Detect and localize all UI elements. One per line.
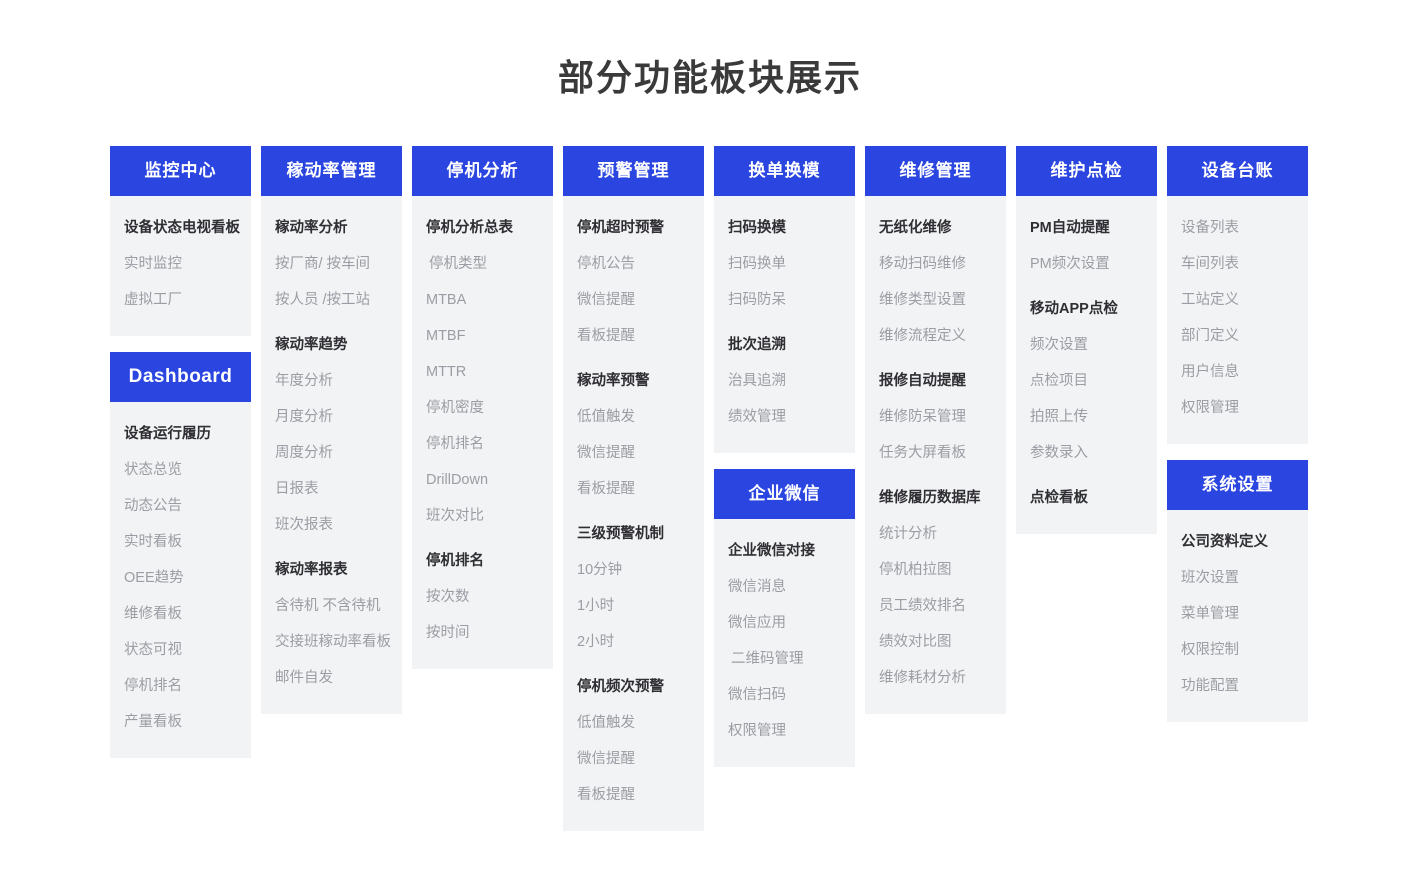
module-item[interactable]: 2小时 <box>563 624 704 660</box>
module-card-body: 停机超时预警停机公告微信提醒看板提醒稼动率预警低值触发微信提醒看板提醒三级预警机… <box>563 196 704 831</box>
module-item[interactable]: 日报表 <box>261 471 402 507</box>
module-item[interactable]: 二维码管理 <box>714 641 855 677</box>
module-group-label[interactable]: 停机超时预警 <box>563 210 704 246</box>
module-item[interactable]: 参数录入 <box>1016 435 1157 471</box>
module-card: 维护点检PM自动提醒PM频次设置移动APP点检频次设置点检项目拍照上传参数录入点… <box>1016 146 1157 534</box>
module-item[interactable]: 班次报表 <box>261 507 402 543</box>
module-card-body: 稼动率分析按厂商/ 按车间按人员 /按工站稼动率趋势年度分析月度分析周度分析日报… <box>261 196 402 714</box>
module-item[interactable]: 1小时 <box>563 588 704 624</box>
module-item[interactable]: 交接班稼动率看板 <box>261 624 402 660</box>
module-group-label[interactable]: 停机排名 <box>412 543 553 579</box>
module-item[interactable]: 动态公告 <box>110 488 251 524</box>
module-item[interactable]: 维修看板 <box>110 596 251 632</box>
module-item[interactable]: 看板提醒 <box>563 318 704 354</box>
module-card: 稼动率管理稼动率分析按厂商/ 按车间按人员 /按工站稼动率趋势年度分析月度分析周… <box>261 146 402 714</box>
module-card: Dashboard设备运行履历状态总览动态公告实时看板OEE趋势维修看板状态可视… <box>110 352 251 758</box>
module-group-label[interactable]: 设备状态电视看板 <box>110 210 251 246</box>
module-item[interactable]: 按次数 <box>412 579 553 615</box>
module-item[interactable]: 按人员 /按工站 <box>261 282 402 318</box>
module-column-maintenance-inspection: 维护点检PM自动提醒PM频次设置移动APP点检频次设置点检项目拍照上传参数录入点… <box>1016 146 1157 534</box>
module-item[interactable]: 状态总览 <box>110 452 251 488</box>
module-item[interactable]: PM频次设置 <box>1016 246 1157 282</box>
module-item[interactable]: 用户信息 <box>1167 354 1308 390</box>
module-card-header[interactable]: 企业微信 <box>714 469 855 519</box>
module-card: 停机分析停机分析总表停机类型MTBAMTBFMTTR停机密度停机排名DrillD… <box>412 146 553 669</box>
module-item[interactable]: 绩效对比图 <box>865 624 1006 660</box>
module-item[interactable]: 微信提醒 <box>563 435 704 471</box>
module-group-label[interactable]: 三级预警机制 <box>563 516 704 552</box>
module-group-label[interactable]: 公司资料定义 <box>1167 524 1308 560</box>
module-item[interactable]: 微信扫码 <box>714 677 855 713</box>
module-item[interactable]: 治具追溯 <box>714 363 855 399</box>
module-group-label[interactable]: 移动APP点检 <box>1016 291 1157 327</box>
page-title: 部分功能板块展示 <box>0 0 1420 104</box>
module-card-body: 停机分析总表停机类型MTBAMTBFMTTR停机密度停机排名DrillDown班… <box>412 196 553 669</box>
module-card-body: 公司资料定义班次设置菜单管理权限控制功能配置 <box>1167 510 1308 722</box>
module-item[interactable]: 停机柏拉图 <box>865 552 1006 588</box>
module-card-body: PM自动提醒PM频次设置移动APP点检频次设置点检项目拍照上传参数录入点检看板 <box>1016 196 1157 534</box>
module-card-header[interactable]: Dashboard <box>110 352 251 402</box>
module-group-label[interactable]: 扫码换模 <box>714 210 855 246</box>
module-item[interactable]: 实时监控 <box>110 246 251 282</box>
module-item[interactable]: DrillDown <box>412 462 553 498</box>
feature-modules-page: 部分功能板块展示 监控中心设备状态电视看板实时监控虚拟工厂Dashboard设备… <box>0 0 1420 879</box>
module-item[interactable]: 按厂商/ 按车间 <box>261 246 402 282</box>
module-item[interactable]: 产量看板 <box>110 704 251 740</box>
module-item[interactable]: 实时看板 <box>110 524 251 560</box>
module-item[interactable]: 部门定义 <box>1167 318 1308 354</box>
module-card-body: 企业微信对接微信消息微信应用二维码管理微信扫码权限管理 <box>714 519 855 767</box>
module-item[interactable]: 看板提醒 <box>563 777 704 813</box>
module-item[interactable]: 工站定义 <box>1167 282 1308 318</box>
module-group-label[interactable]: 设备运行履历 <box>110 416 251 452</box>
module-item[interactable]: 权限管理 <box>714 713 855 749</box>
module-group-label[interactable]: 企业微信对接 <box>714 533 855 569</box>
module-item[interactable]: 扫码换单 <box>714 246 855 282</box>
module-card: 企业微信企业微信对接微信消息微信应用二维码管理微信扫码权限管理 <box>714 469 855 767</box>
module-item[interactable]: 状态可视 <box>110 632 251 668</box>
module-card-body: 设备运行履历状态总览动态公告实时看板OEE趋势维修看板状态可视停机排名产量看板 <box>110 402 251 758</box>
module-item[interactable]: 统计分析 <box>865 516 1006 552</box>
module-card-header[interactable]: 维护点检 <box>1016 146 1157 196</box>
module-group-label[interactable]: 稼动率趋势 <box>261 327 402 363</box>
module-item[interactable]: 含待机 不含待机 <box>261 588 402 624</box>
module-item[interactable]: 按时间 <box>412 615 553 651</box>
module-item[interactable]: 拍照上传 <box>1016 399 1157 435</box>
module-item[interactable]: 权限控制 <box>1167 632 1308 668</box>
module-item[interactable]: 点检项目 <box>1016 363 1157 399</box>
module-card-body: 扫码换模扫码换单扫码防呆批次追溯治具追溯绩效管理 <box>714 196 855 453</box>
module-card-body: 设备列表车间列表工站定义部门定义用户信息权限管理 <box>1167 196 1308 444</box>
module-item[interactable]: 邮件自发 <box>261 660 402 696</box>
module-item[interactable]: 权限管理 <box>1167 390 1308 426</box>
module-item[interactable]: 车间列表 <box>1167 246 1308 282</box>
module-item[interactable]: OEE趋势 <box>110 560 251 596</box>
module-item[interactable]: 看板提醒 <box>563 471 704 507</box>
module-card-header[interactable]: 稼动率管理 <box>261 146 402 196</box>
module-card-header[interactable]: 停机分析 <box>412 146 553 196</box>
module-item[interactable]: MTTR <box>412 354 553 390</box>
module-item[interactable]: 班次对比 <box>412 498 553 534</box>
module-card-header[interactable]: 设备台账 <box>1167 146 1308 196</box>
module-card-header[interactable]: 预警管理 <box>563 146 704 196</box>
module-card-header[interactable]: 系统设置 <box>1167 460 1308 510</box>
module-item[interactable]: 低值触发 <box>563 705 704 741</box>
module-group-label[interactable]: 稼动率预警 <box>563 363 704 399</box>
module-item[interactable]: 员工绩效排名 <box>865 588 1006 624</box>
module-group-label[interactable]: PM自动提醒 <box>1016 210 1157 246</box>
module-item[interactable]: 维修类型设置 <box>865 282 1006 318</box>
module-group-label[interactable]: 批次追溯 <box>714 327 855 363</box>
module-item[interactable]: 设备列表 <box>1167 210 1308 246</box>
module-card-header[interactable]: 换单换模 <box>714 146 855 196</box>
module-item[interactable]: 移动扫码维修 <box>865 246 1006 282</box>
module-item[interactable]: 周度分析 <box>261 435 402 471</box>
module-item[interactable]: 频次设置 <box>1016 327 1157 363</box>
module-item[interactable]: 低值触发 <box>563 399 704 435</box>
module-group-label[interactable]: 无纸化维修 <box>865 210 1006 246</box>
module-item[interactable]: 微信提醒 <box>563 282 704 318</box>
module-group-label[interactable]: 点检看板 <box>1016 480 1157 516</box>
module-card-header[interactable]: 监控中心 <box>110 146 251 196</box>
module-item[interactable]: 菜单管理 <box>1167 596 1308 632</box>
module-group-label[interactable]: 维修履历数据库 <box>865 480 1006 516</box>
module-item[interactable]: 停机公告 <box>563 246 704 282</box>
module-card: 系统设置公司资料定义班次设置菜单管理权限控制功能配置 <box>1167 460 1308 722</box>
module-item[interactable]: 微信提醒 <box>563 741 704 777</box>
module-item[interactable]: 年度分析 <box>261 363 402 399</box>
module-column-utilization: 稼动率管理稼动率分析按厂商/ 按车间按人员 /按工站稼动率趋势年度分析月度分析周… <box>261 146 402 714</box>
module-card-body: 设备状态电视看板实时监控虚拟工厂 <box>110 196 251 336</box>
module-item[interactable]: 微信应用 <box>714 605 855 641</box>
module-column-alarm-management: 预警管理停机超时预警停机公告微信提醒看板提醒稼动率预警低值触发微信提醒看板提醒三… <box>563 146 704 831</box>
module-item[interactable]: 班次设置 <box>1167 560 1308 596</box>
module-column-repair-management: 维修管理无纸化维修移动扫码维修维修类型设置维修流程定义报修自动提醒维修防呆管理任… <box>865 146 1006 714</box>
module-item[interactable]: 虚拟工厂 <box>110 282 251 318</box>
module-item[interactable]: MTBA <box>412 282 553 318</box>
module-item[interactable]: MTBF <box>412 318 553 354</box>
module-card: 换单换模扫码换模扫码换单扫码防呆批次追溯治具追溯绩效管理 <box>714 146 855 453</box>
module-group-label[interactable]: 稼动率分析 <box>261 210 402 246</box>
module-card: 设备台账设备列表车间列表工站定义部门定义用户信息权限管理 <box>1167 146 1308 444</box>
module-group-label[interactable]: 报修自动提醒 <box>865 363 1006 399</box>
module-item[interactable]: 月度分析 <box>261 399 402 435</box>
module-card-header[interactable]: 维修管理 <box>865 146 1006 196</box>
module-item[interactable]: 功能配置 <box>1167 668 1308 704</box>
module-column-equipment-ledger: 设备台账设备列表车间列表工站定义部门定义用户信息权限管理系统设置公司资料定义班次… <box>1167 146 1308 722</box>
module-item[interactable]: 停机排名 <box>412 426 553 462</box>
module-item[interactable]: 10分钟 <box>563 552 704 588</box>
module-column-downtime-analysis: 停机分析停机分析总表停机类型MTBAMTBFMTTR停机密度停机排名DrillD… <box>412 146 553 669</box>
module-item[interactable]: 停机类型 <box>412 246 553 282</box>
module-card: 监控中心设备状态电视看板实时监控虚拟工厂 <box>110 146 251 336</box>
module-item[interactable]: 停机排名 <box>110 668 251 704</box>
module-group-label[interactable]: 停机频次预警 <box>563 669 704 705</box>
module-item[interactable]: 停机密度 <box>412 390 553 426</box>
module-item[interactable]: 任务大屏看板 <box>865 435 1006 471</box>
module-item[interactable]: 维修防呆管理 <box>865 399 1006 435</box>
module-column-changeover: 换单换模扫码换模扫码换单扫码防呆批次追溯治具追溯绩效管理企业微信企业微信对接微信… <box>714 146 855 767</box>
module-item[interactable]: 扫码防呆 <box>714 282 855 318</box>
module-item[interactable]: 绩效管理 <box>714 399 855 435</box>
module-card: 预警管理停机超时预警停机公告微信提醒看板提醒稼动率预警低值触发微信提醒看板提醒三… <box>563 146 704 831</box>
module-item[interactable]: 维修流程定义 <box>865 318 1006 354</box>
module-card: 维修管理无纸化维修移动扫码维修维修类型设置维修流程定义报修自动提醒维修防呆管理任… <box>865 146 1006 714</box>
module-item[interactable]: 维修耗材分析 <box>865 660 1006 696</box>
module-column-monitoring: 监控中心设备状态电视看板实时监控虚拟工厂Dashboard设备运行履历状态总览动… <box>110 146 251 758</box>
module-group-label[interactable]: 停机分析总表 <box>412 210 553 246</box>
module-group-label[interactable]: 稼动率报表 <box>261 552 402 588</box>
module-card-body: 无纸化维修移动扫码维修维修类型设置维修流程定义报修自动提醒维修防呆管理任务大屏看… <box>865 196 1006 714</box>
module-item[interactable]: 微信消息 <box>714 569 855 605</box>
module-board: 监控中心设备状态电视看板实时监控虚拟工厂Dashboard设备运行履历状态总览动… <box>110 146 1310 831</box>
